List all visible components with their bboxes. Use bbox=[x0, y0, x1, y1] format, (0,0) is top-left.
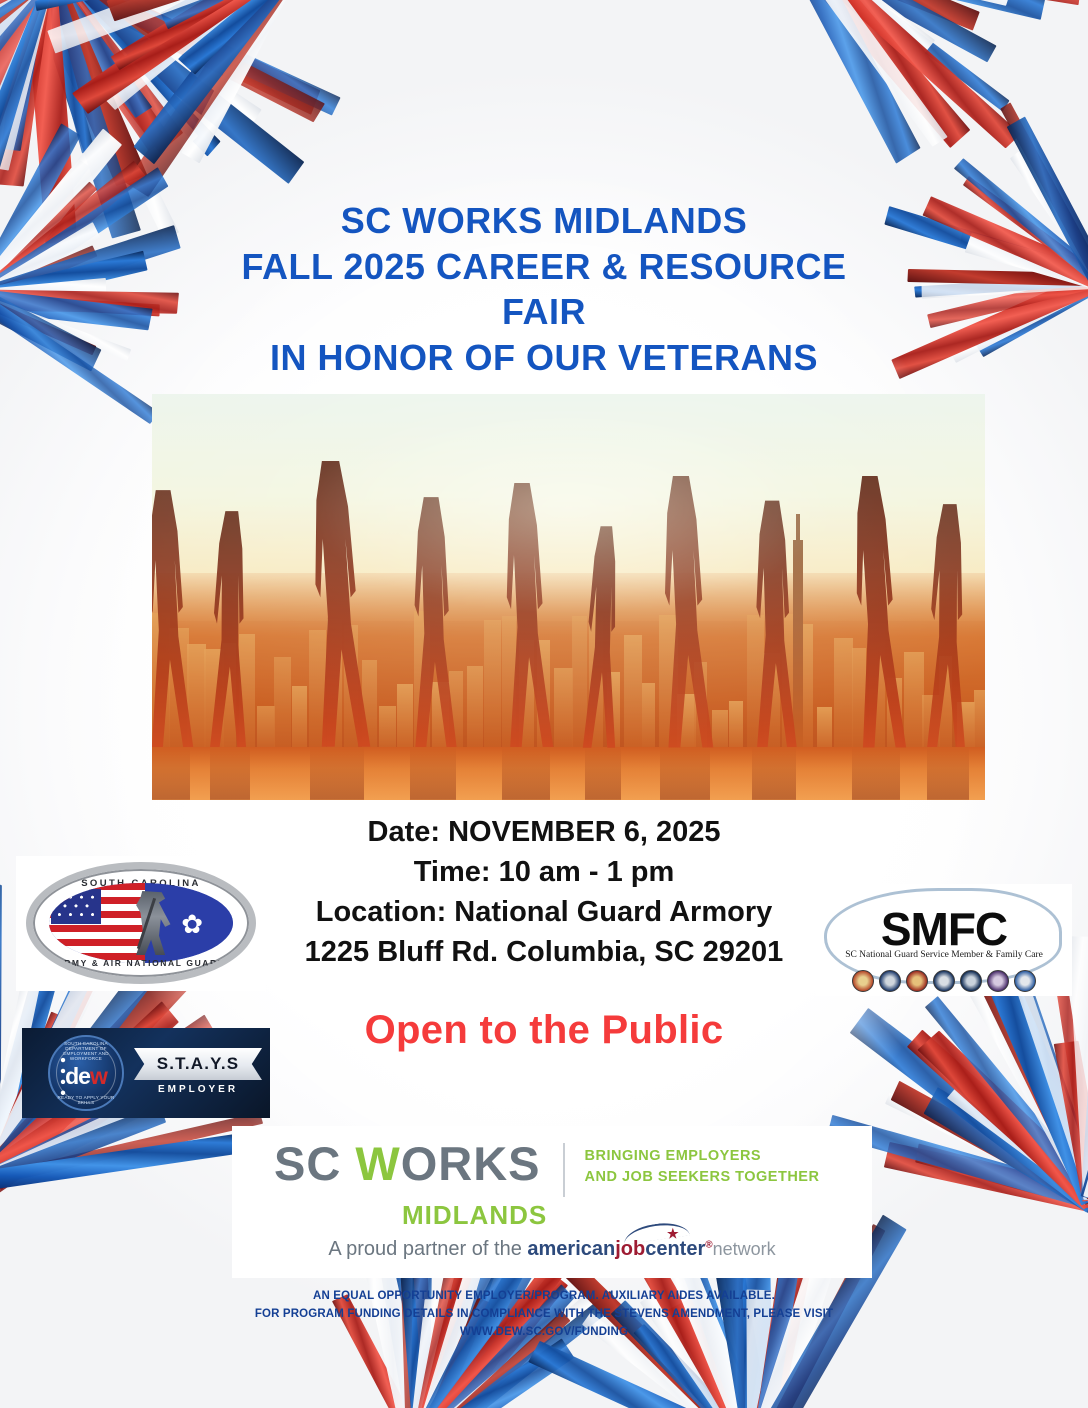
stays-label: S.T.A.Y.S bbox=[157, 1054, 240, 1074]
military-branch-seals bbox=[816, 970, 1072, 992]
branch-seal-icon bbox=[1014, 970, 1036, 992]
photo-sunset-glow bbox=[152, 394, 985, 800]
sc-works-wordmark-row: SC WORKS BRINGING EMPLOYERS AND JOB SEEK… bbox=[274, 1140, 819, 1197]
footer-line-2: FOR PROGRAM FUNDING DETAILS IN COMPLIANC… bbox=[0, 1306, 1088, 1324]
sc-national-guard-logo: SOUTH CAROLINA ✿ ARMY & AIR NATIONAL GUA… bbox=[16, 856, 266, 991]
ajc-american: american bbox=[527, 1238, 615, 1260]
sc-works-tagline-line-1: BRINGING EMPLOYERS bbox=[585, 1146, 820, 1167]
smfc-subtitle: SC National Guard Service Member & Famil… bbox=[816, 950, 1072, 960]
sc-works-midlands-logo: SC WORKS BRINGING EMPLOYERS AND JOB SEEK… bbox=[232, 1126, 872, 1278]
national-guard-seal-inner: ✿ bbox=[49, 883, 233, 963]
stays-employer-label: EMPLOYER bbox=[134, 1084, 262, 1095]
smfc-acronym: SMFC bbox=[816, 906, 1072, 952]
national-guard-arc-bottom-text: ARMY & AIR NATIONAL GUARD bbox=[33, 958, 249, 968]
sc-works-prefix: SC bbox=[274, 1137, 355, 1190]
sc-works-wordmark: SC WORKS bbox=[274, 1140, 541, 1187]
dew-wordmark-de: de bbox=[65, 1063, 90, 1089]
dew-stays-employer-logo: SOUTH CAROLINA DEPARTMENT OF EMPLOYMENT … bbox=[22, 1028, 270, 1118]
dew-seal-bottom-text: READY TO APPLY YOUR SKILLS bbox=[50, 1095, 122, 1105]
footer-disclaimer: AN EQUAL OPPORTUNITY EMPLOYER/PROGRAM. A… bbox=[0, 1288, 1088, 1341]
ajc-network-text: network bbox=[713, 1239, 776, 1259]
flyer-page: SC WORKS MIDLANDS FALL 2025 CAREER & RES… bbox=[0, 0, 1088, 1408]
dew-circular-seal: SOUTH CAROLINA DEPARTMENT OF EMPLOYMENT … bbox=[48, 1035, 124, 1111]
dew-wordmark-w-accent: w bbox=[90, 1063, 107, 1089]
branch-seal-icon bbox=[960, 970, 982, 992]
dew-wordmark: dew bbox=[50, 1065, 122, 1088]
headline-line-2: FALL 2025 CAREER & RESOURCE bbox=[0, 244, 1088, 290]
headline-line-3: FAIR bbox=[0, 289, 1088, 335]
smfc-logo: SMFC SC National Guard Service Member & … bbox=[816, 884, 1072, 996]
american-job-center-partner-line: A proud partner of the ★americanjobcente… bbox=[232, 1238, 872, 1261]
branch-seal-icon bbox=[852, 970, 874, 992]
headline-line-1: SC WORKS MIDLANDS bbox=[0, 198, 1088, 244]
footer-line-1: AN EQUAL OPPORTUNITY EMPLOYER/PROGRAM. A… bbox=[0, 1288, 1088, 1306]
sc-works-suffix: ORKS bbox=[401, 1137, 541, 1190]
us-flag-stars bbox=[53, 891, 99, 922]
us-flag-canton bbox=[51, 889, 101, 924]
ajc-registered-mark: ® bbox=[705, 1239, 712, 1250]
branch-seal-icon bbox=[879, 970, 901, 992]
sc-works-region-label: MIDLANDS bbox=[402, 1200, 547, 1231]
event-date: Date: NOVEMBER 6, 2025 bbox=[0, 812, 1088, 852]
palmetto-tree-icon: ✿ bbox=[175, 907, 209, 941]
logo-divider bbox=[563, 1143, 565, 1197]
branch-seal-icon bbox=[906, 970, 928, 992]
sc-works-w-checkmark-accent: W bbox=[355, 1137, 400, 1190]
footer-line-3: WWW.DEW.SC.GOV/FUNDING bbox=[0, 1324, 1088, 1342]
ajc-star-icon: ★ bbox=[667, 1226, 679, 1242]
sc-works-tagline: BRINGING EMPLOYERS AND JOB SEEKERS TOGET… bbox=[585, 1146, 820, 1187]
headline-line-4: IN HONOR OF OUR VETERANS bbox=[0, 335, 1088, 381]
american-job-center-wordmark: ★americanjobcenter® bbox=[527, 1238, 712, 1261]
branch-seal-icon bbox=[933, 970, 955, 992]
hero-photo-business-people-silhouettes bbox=[152, 394, 985, 800]
sc-works-tagline-line-2: AND JOB SEEKERS TOGETHER bbox=[585, 1167, 820, 1188]
partner-prefix-text: A proud partner of the bbox=[328, 1238, 527, 1260]
stays-ribbon: S.T.A.Y.S bbox=[134, 1048, 262, 1080]
national-guard-seal-ring: SOUTH CAROLINA ✿ ARMY & AIR NATIONAL GUA… bbox=[26, 862, 256, 984]
us-flag-stripes bbox=[49, 883, 145, 963]
page-title: SC WORKS MIDLANDS FALL 2025 CAREER & RES… bbox=[0, 198, 1088, 381]
branch-seal-icon bbox=[987, 970, 1009, 992]
